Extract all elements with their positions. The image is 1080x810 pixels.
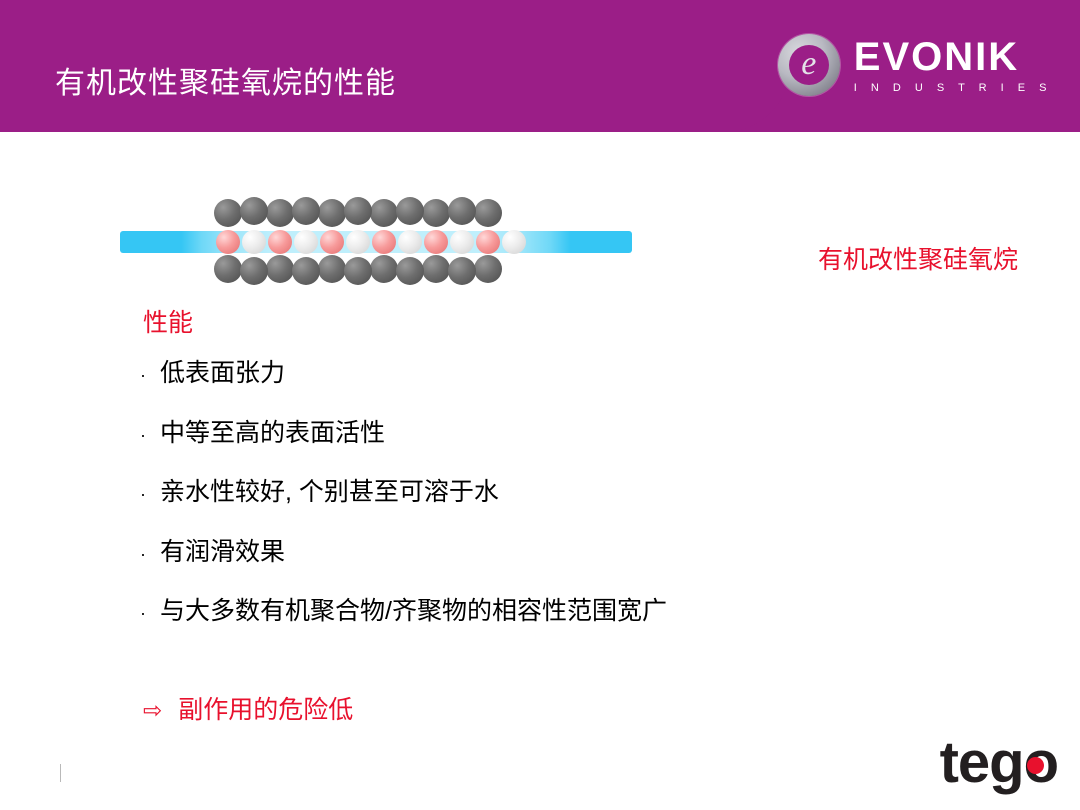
silicon-atom — [372, 230, 396, 254]
list-item-label: 有润滑效果 — [160, 539, 285, 567]
evonik-subtitle: I N D U S T R I E S — [854, 82, 1052, 94]
tego-logo-text: teg — [940, 734, 1024, 792]
arrow-right-icon: ⇨ — [143, 697, 162, 724]
oxygen-atom — [502, 230, 526, 254]
list-item: · 低表面张力 — [140, 360, 960, 388]
oxygen-atom — [346, 230, 370, 254]
section-heading: 性能 — [143, 303, 193, 339]
list-item-label: 亲水性较好, 个别甚至可溶于水 — [160, 479, 499, 507]
bullet-marker-icon: · — [140, 485, 160, 505]
carbon-atom — [318, 255, 346, 283]
footer-tick-mark — [60, 764, 61, 782]
carbon-atom — [240, 257, 268, 285]
conclusion-line: ⇨ 副作用的危险低 — [143, 690, 353, 726]
carbon-atom — [266, 199, 294, 227]
bullet-list: · 低表面张力 · 中等至高的表面活性 · 亲水性较好, 个别甚至可溶于水 · … — [140, 360, 960, 658]
carbon-atom — [318, 199, 346, 227]
bullet-marker-icon: · — [140, 545, 160, 565]
diagram-caption: 有机改性聚硅氧烷 — [818, 240, 1018, 276]
polysiloxane-chain-diagram — [120, 195, 640, 290]
oxygen-atom — [398, 230, 422, 254]
carbon-atom — [448, 197, 476, 225]
carbon-atom — [292, 197, 320, 225]
carbon-atom — [344, 197, 372, 225]
list-item-label: 与大多数有机聚合物/齐聚物的相容性范围宽广 — [160, 598, 667, 626]
carbon-atom — [370, 199, 398, 227]
slide-header: 有机改性聚硅氧烷的性能 e EVONIK I N D U S T R I E S — [0, 0, 1080, 132]
silicon-atom — [268, 230, 292, 254]
carbon-atom — [474, 255, 502, 283]
bullet-marker-icon: · — [140, 604, 160, 624]
carbon-atom — [396, 257, 424, 285]
tego-dot-icon — [1027, 757, 1044, 774]
list-item-label: 低表面张力 — [160, 360, 285, 388]
carbon-atom — [214, 255, 242, 283]
carbon-atom — [370, 255, 398, 283]
oxygen-atom — [242, 230, 266, 254]
carbon-atom — [448, 257, 476, 285]
carbon-atom — [292, 257, 320, 285]
list-item: · 有润滑效果 — [140, 539, 960, 567]
bullet-marker-icon: · — [140, 426, 160, 446]
silicon-atom — [320, 230, 344, 254]
evonik-mark-icon: e — [778, 34, 840, 96]
carbon-atom — [474, 199, 502, 227]
tego-logo: teg o — [940, 734, 1044, 792]
carbon-atom — [344, 257, 372, 285]
list-item: · 中等至高的表面活性 — [140, 420, 960, 448]
silicon-atom — [216, 230, 240, 254]
evonik-name: EVONIK — [854, 37, 1019, 77]
page-title: 有机改性聚硅氧烷的性能 — [55, 58, 396, 102]
list-item: · 亲水性较好, 个别甚至可溶于水 — [140, 479, 960, 507]
carbon-atom — [240, 197, 268, 225]
oxygen-atom — [450, 230, 474, 254]
carbon-atom — [422, 199, 450, 227]
evonik-logo: e EVONIK I N D U S T R I E S — [778, 34, 1052, 96]
bullet-marker-icon: · — [140, 366, 160, 386]
list-item: · 与大多数有机聚合物/齐聚物的相容性范围宽广 — [140, 598, 960, 626]
carbon-atom — [266, 255, 294, 283]
evonik-wordmark: EVONIK I N D U S T R I E S — [854, 37, 1052, 94]
silicon-atom — [424, 230, 448, 254]
carbon-atom — [422, 255, 450, 283]
evonik-mark-letter: e — [801, 47, 816, 81]
carbon-atom — [214, 199, 242, 227]
carbon-atom — [396, 197, 424, 225]
silicon-atom — [476, 230, 500, 254]
list-item-label: 中等至高的表面活性 — [160, 420, 385, 448]
oxygen-atom — [294, 230, 318, 254]
conclusion-label: 副作用的危险低 — [178, 690, 353, 726]
